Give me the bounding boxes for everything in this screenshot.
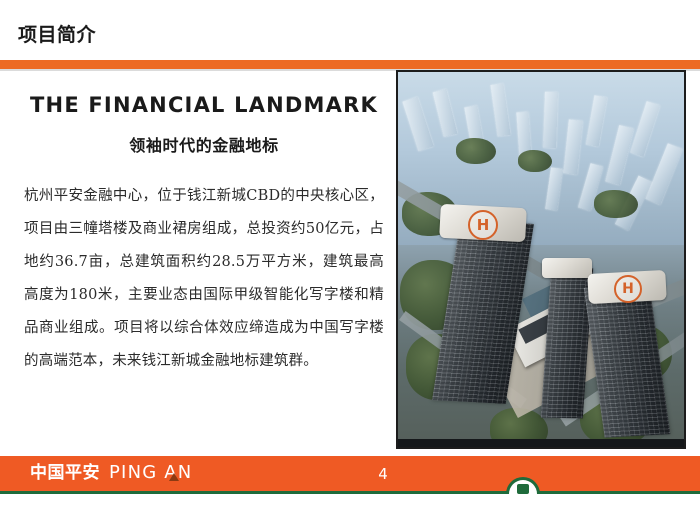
footer-accent-line bbox=[0, 491, 700, 494]
logo-english-text: PING AN bbox=[109, 462, 192, 484]
slide-canvas: 项目简介 THE FINANCIAL LANDMARK 领袖时代的金融地标 杭州… bbox=[0, 0, 700, 525]
header-accent-bar bbox=[0, 60, 700, 69]
body-paragraph: 杭州平安金融中心，位于钱江新城CBD的中央核心区，项目由三幢塔楼及商业裙房组成，… bbox=[24, 180, 384, 378]
arch-core bbox=[517, 484, 529, 494]
helipad-marking: H bbox=[614, 275, 642, 303]
tower-secondary-roof bbox=[542, 258, 592, 278]
far-building bbox=[543, 92, 558, 148]
helipad-letter: H bbox=[477, 216, 490, 234]
page-number: 4 bbox=[371, 464, 395, 484]
ping-an-logo: 中国平安 PING AN bbox=[30, 462, 192, 484]
helipad-letter: H bbox=[622, 281, 634, 297]
tree-mass bbox=[594, 190, 638, 218]
text-column: THE FINANCIAL LANDMARK 领袖时代的金融地标 杭州平安金融中… bbox=[24, 80, 384, 378]
logo-english-label: PING AN bbox=[109, 462, 192, 483]
tree-mass bbox=[518, 150, 552, 172]
image-bottom-edge bbox=[398, 439, 684, 447]
logo-chinese-text: 中国平安 bbox=[30, 462, 100, 484]
mountain-peak-icon bbox=[169, 473, 179, 481]
page-title: 项目简介 bbox=[18, 22, 96, 48]
sub-title: 领袖时代的金融地标 bbox=[24, 134, 384, 158]
helipad-marking: H bbox=[468, 210, 498, 240]
project-rendering-image: H H bbox=[396, 70, 686, 449]
ping-an-arch-mark bbox=[506, 477, 540, 494]
tree-mass bbox=[456, 138, 496, 164]
main-title: THE FINANCIAL LANDMARK bbox=[24, 90, 384, 120]
